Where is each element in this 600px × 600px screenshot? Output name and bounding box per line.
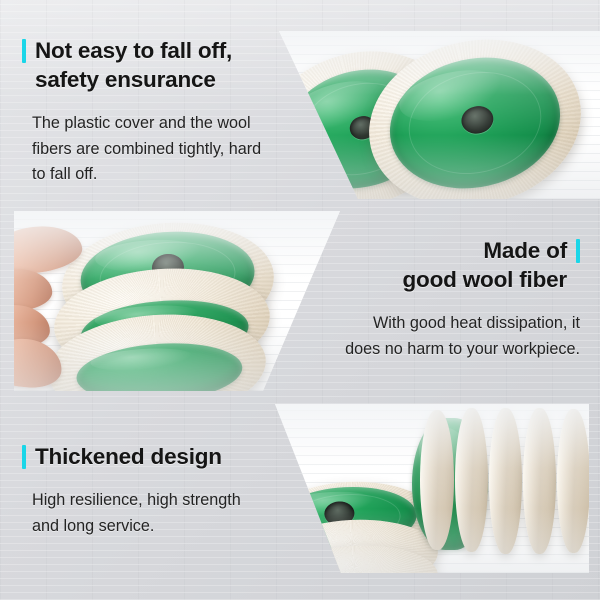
- feature-heading-2-text: Made of good wool fiber: [403, 236, 567, 294]
- disc-on-edge-1: [420, 410, 454, 550]
- accent-bar-icon: [576, 239, 580, 263]
- disc-on-edge-3: [489, 408, 522, 554]
- feature-block-1: Not easy to fall off, safety ensurance T…: [22, 36, 322, 204]
- feature-heading-3: Thickened design: [22, 442, 322, 471]
- infographic-canvas: Not easy to fall off, safety ensurance T…: [0, 0, 600, 600]
- disc-on-edge-2: [455, 408, 488, 552]
- ring-finger: [14, 335, 64, 390]
- feature-block-2: Made of good wool fiber With good heat d…: [270, 236, 580, 378]
- feature-block-3: Thickened design High resilience, high s…: [22, 442, 322, 555]
- feature-heading-2: Made of good wool fiber: [270, 236, 580, 294]
- hand-holding-product: [14, 225, 100, 391]
- accent-bar-icon: [22, 445, 26, 469]
- feature-body-3: High resilience, high strength and long …: [22, 488, 322, 539]
- feature-body-2: With good heat dissipation, it does no h…: [270, 311, 580, 362]
- feature-heading-3-text: Thickened design: [35, 442, 222, 471]
- feature-heading-1-text: Not easy to fall off, safety ensurance: [35, 36, 232, 94]
- feature-heading-1: Not easy to fall off, safety ensurance: [22, 36, 322, 94]
- feature-body-1: The plastic cover and the wool fibers ar…: [22, 111, 322, 188]
- photo-scene-1: [276, 31, 600, 199]
- accent-bar-icon: [22, 39, 26, 63]
- product-photo-two-discs: [276, 31, 600, 199]
